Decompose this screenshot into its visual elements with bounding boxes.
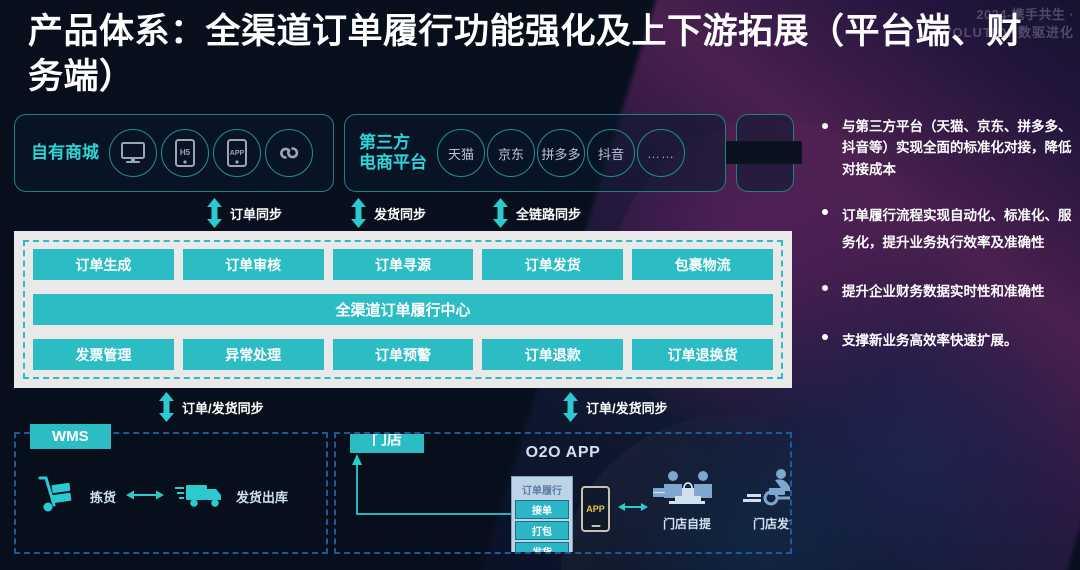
own-mall-box[interactable]: 自有商城 H5 <box>14 114 334 192</box>
benefit-item-4: 支撑新业务高效率快速扩展。 <box>822 327 1072 354</box>
own-mall-label: 自有商城 <box>31 143 99 163</box>
benefit-item-1: 与第三方平台（天猫、京东、拼多多、抖音等）实现全面的标准化对接，降低对接成本 <box>822 116 1072 180</box>
sync-order-label: 订单同步 <box>230 204 282 223</box>
platform-tmall[interactable]: 天猫 <box>437 129 485 177</box>
fulfillment-cell-order-create[interactable]: 订单生成 <box>33 249 174 280</box>
double-arrow-icon <box>492 198 509 228</box>
sync-store-label: 订单/发货同步 <box>586 398 668 417</box>
mini-panel-item-ship[interactable]: 发货 <box>515 542 569 554</box>
svg-text:H5: H5 <box>180 148 191 157</box>
double-arrow-icon <box>206 198 223 228</box>
store-delivery-item[interactable]: 门店发货 <box>741 468 792 532</box>
fulfillment-cell-order-alert[interactable]: 订单预警 <box>333 339 474 370</box>
channel-row: 自有商城 H5 <box>14 114 794 192</box>
order-fulfillment-mini-panel[interactable]: 订单履行 接单 打包 发货 返货 <box>511 476 573 554</box>
platform-pdd[interactable]: 拼多多 <box>537 129 585 177</box>
platform-pdd-label: 拼多多 <box>541 144 580 163</box>
own-channel-app[interactable]: APP <box>213 129 261 177</box>
store-tag: 门店 <box>350 432 424 453</box>
svg-text:APP: APP <box>230 150 245 157</box>
fulfillment-cell-order-return-exchange[interactable]: 订单退换货 <box>632 339 773 370</box>
benefit-text-2: 订单履行流程实现自动化、标准化、服务化，提升业务执行效率及准确性 <box>842 202 1072 256</box>
redaction-overlay <box>726 141 802 164</box>
fulfillment-cell-order-shipping[interactable]: 订单发货 <box>482 249 623 280</box>
double-arrow-icon <box>350 198 367 228</box>
fulfillment-cell-invoice-mgmt[interactable]: 发票管理 <box>33 339 174 370</box>
fulfillment-center-panel: 订单生成 订单审核 订单寻源 订单发货 包裹物流 全渠道订单履行中心 发票管理 … <box>14 231 792 388</box>
sync-arrows-bottom: 订单/发货同步 订单/发货同步 <box>0 392 800 426</box>
app-phone-icon: APP <box>581 486 610 532</box>
platform-douyin-label: 抖音 <box>598 144 624 163</box>
wms-outbound-label: 发货出库 <box>236 487 288 506</box>
double-arrow-icon <box>562 392 579 422</box>
store-delivery-icon <box>741 495 792 512</box>
store-fulfillment-icons: 门店自提 门店发货 <box>651 468 792 532</box>
bullet-dot-icon <box>822 285 828 291</box>
benefit-text-1: 与第三方平台（天猫、京东、拼多多、抖音等）实现全面的标准化对接，降低对接成本 <box>842 116 1072 180</box>
sync-store-order-shipment: 订单/发货同步 <box>562 392 668 422</box>
benefit-item-2: 订单履行流程实现自动化、标准化、服务化，提升业务执行效率及准确性 <box>822 202 1072 256</box>
sync-arrows-top: 订单同步 发货同步 全链路同步 <box>0 198 800 232</box>
fulfillment-cell-order-audit[interactable]: 订单审核 <box>183 249 324 280</box>
fulfillment-cell-order-sourcing[interactable]: 订单寻源 <box>333 249 474 280</box>
wms-box[interactable]: WMS 拣货 <box>14 432 328 554</box>
mini-panel-header: 订单履行 <box>515 480 569 500</box>
page-title: 产品体系：全渠道订单履行功能强化及上下游拓展（平台端、财务端） <box>28 10 1038 100</box>
fulfillment-bottom-row: 发票管理 异常处理 订单预警 订单退款 订单退换货 <box>33 339 773 370</box>
own-channel-h5[interactable]: H5 <box>161 129 209 177</box>
third-party-label: 第三方 电商平台 <box>359 133 427 173</box>
double-arrow-icon <box>158 392 175 422</box>
benefit-text-3: 提升企业财务数据实时性和准确性 <box>842 278 1045 305</box>
platform-more-label: …… <box>647 146 675 161</box>
fulfillment-cell-order-refund[interactable]: 订单退款 <box>482 339 623 370</box>
horizontal-double-arrow-icon <box>126 488 164 506</box>
fulfillment-center-bar[interactable]: 全渠道订单履行中心 <box>33 294 773 325</box>
o2o-horizontal-double-arrow-icon <box>618 500 648 518</box>
platform-douyin[interactable]: 抖音 <box>587 129 635 177</box>
platform-jd[interactable]: 京东 <box>487 129 535 177</box>
h5-phone-icon: H5 <box>170 138 200 168</box>
fulfillment-top-row: 订单生成 订单审核 订单寻源 订单发货 包裹物流 <box>33 249 773 280</box>
benefit-text-4: 支撑新业务高效率快速扩展。 <box>842 327 1018 354</box>
sync-shipment-label: 发货同步 <box>374 204 426 223</box>
own-channel-mini-program[interactable] <box>265 129 313 177</box>
third-party-label-line2: 电商平台 <box>359 153 427 173</box>
app-phone-icon: APP <box>222 138 252 168</box>
wms-flow: 拣货 发货出库 <box>34 474 288 519</box>
store-pickup-item[interactable]: 门店自提 <box>651 468 723 532</box>
sync-fullchain-label: 全链路同步 <box>516 204 581 223</box>
third-party-label-line1: 第三方 <box>359 133 427 153</box>
fulfillment-dashed-border: 订单生成 订单审核 订单寻源 订单发货 包裹物流 全渠道订单履行中心 发票管理 … <box>23 240 783 379</box>
app-phone-label: APP <box>586 504 605 514</box>
wms-tag: WMS <box>30 424 111 449</box>
third-party-platform-box[interactable]: 第三方 电商平台 天猫 京东 拼多多 抖音 …… <box>344 114 726 192</box>
slide-root: 2024-携手共生 · EVOLUTION数驱进化 产品体系：全渠道订单履行功能… <box>0 0 1080 570</box>
platform-more[interactable]: …… <box>637 129 685 177</box>
bullet-dot-icon <box>822 123 828 129</box>
bullet-dot-icon <box>822 334 828 340</box>
mini-program-icon <box>274 138 304 168</box>
sync-fullchain: 全链路同步 <box>492 198 581 228</box>
store-elbow-connector-icon <box>348 452 538 533</box>
platform-tmall-label: 天猫 <box>448 144 474 163</box>
truck-icon <box>174 477 226 516</box>
app-phone-wrap[interactable]: APP <box>581 486 610 532</box>
wms-picking-label: 拣货 <box>90 487 116 506</box>
hand-truck-icon <box>34 474 80 519</box>
fulfillment-cell-parcel-logistics[interactable]: 包裹物流 <box>632 249 773 280</box>
benefit-item-3: 提升企业财务数据实时性和准确性 <box>822 278 1072 305</box>
fulfillment-cell-exception-handling[interactable]: 异常处理 <box>183 339 324 370</box>
o2o-box[interactable]: 门店 O2O APP 订单履行 接单 打包 发货 返货 APP <box>334 432 792 554</box>
sync-shipment: 发货同步 <box>350 198 426 228</box>
bullet-dot-icon <box>822 209 828 215</box>
sync-wms-label: 订单/发货同步 <box>182 398 264 417</box>
benefits-list: 与第三方平台（天猫、京东、拼多多、抖音等）实现全面的标准化对接，降低对接成本 订… <box>822 116 1072 376</box>
sync-wms-order-shipment: 订单/发货同步 <box>158 392 264 422</box>
store-pickup-caption: 门店自提 <box>651 515 723 532</box>
own-channel-monitor[interactable] <box>109 129 157 177</box>
store-pickup-icon <box>651 495 723 512</box>
mini-panel-item-pack[interactable]: 打包 <box>515 521 569 540</box>
monitor-icon <box>118 138 148 168</box>
platform-jd-label: 京东 <box>498 144 524 163</box>
store-delivery-caption: 门店发货 <box>741 515 792 532</box>
mini-panel-item-accept[interactable]: 接单 <box>515 500 569 519</box>
sync-order: 订单同步 <box>206 198 282 228</box>
